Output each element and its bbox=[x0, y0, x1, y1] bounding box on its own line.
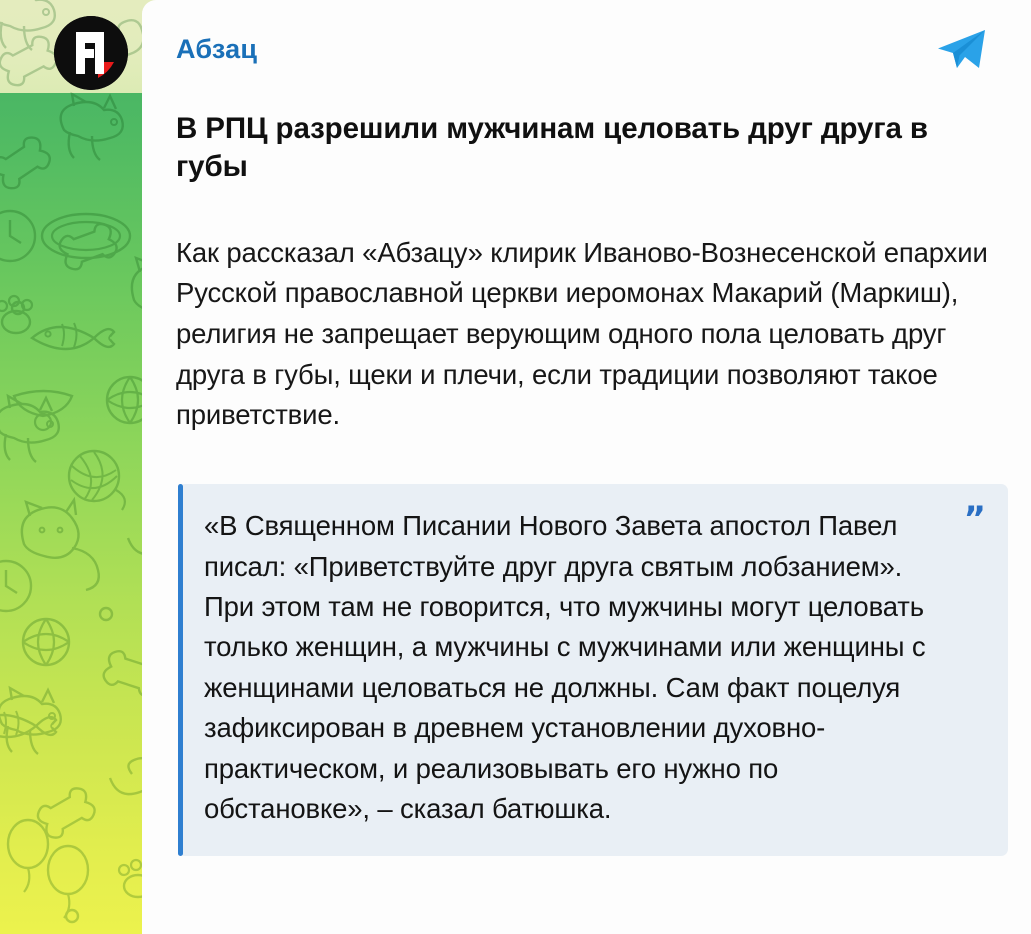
channel-name[interactable]: Абзац bbox=[176, 36, 257, 63]
bubble-header: Абзац bbox=[176, 0, 1003, 96]
telegram-plane-icon[interactable] bbox=[935, 27, 987, 71]
avatar[interactable] bbox=[54, 16, 128, 90]
message-headline: В РПЦ разрешили мужчинам целовать друг д… bbox=[176, 110, 976, 187]
blockquote-accent-bar bbox=[178, 484, 183, 855]
message-body: Как рассказал «Абзацу» клирик Иваново-Во… bbox=[176, 233, 1003, 436]
message-bubble: Абзац В РПЦ разрешили мужчинам целовать … bbox=[142, 0, 1031, 934]
blockquote-text: «В Священном Писании Нового Завета апост… bbox=[204, 506, 938, 829]
message-blockquote: ” «В Священном Писании Нового Завета апо… bbox=[178, 484, 1008, 855]
quote-mark-icon: ” bbox=[964, 502, 986, 536]
